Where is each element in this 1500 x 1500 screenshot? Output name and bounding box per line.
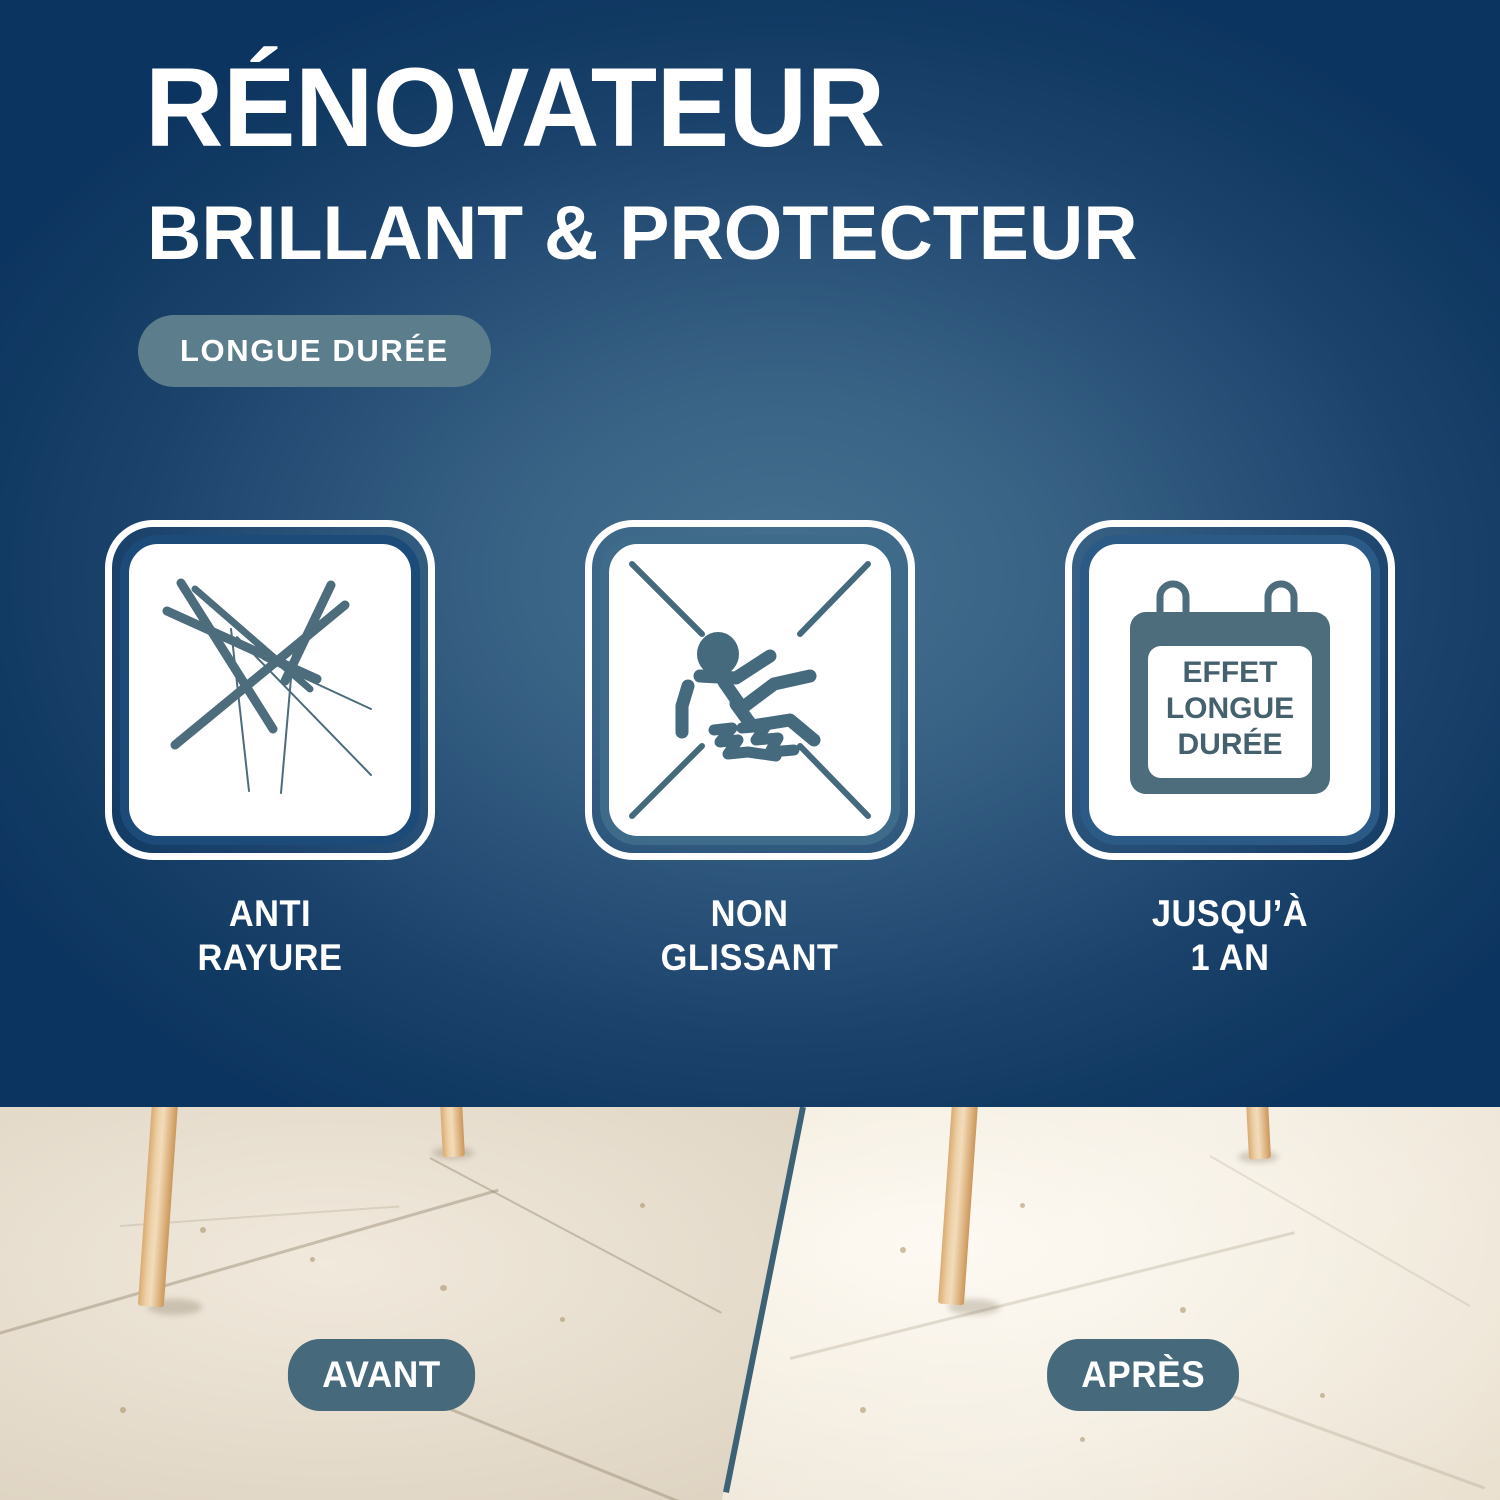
scratch-lines-icon [145, 559, 395, 821]
calendar-text-line1: EFFET [1183, 656, 1278, 689]
floor-speck [120, 1407, 126, 1413]
slippery-person-icon [624, 558, 876, 822]
page-subtitle: BRILLANT & PROTECTEUR [147, 196, 1138, 272]
before-after-photo [0, 1107, 1500, 1500]
feature-label: JUSQU’À 1 AN [1152, 892, 1308, 979]
calendar-text-line3: DURÉE [1177, 727, 1282, 761]
floor-speck [1080, 1437, 1085, 1442]
table-leg [1246, 1107, 1271, 1159]
feature-icon-frame [105, 520, 435, 860]
promo-banner: RÉNOVATEUR BRILLANT & PROTECTEUR LONGUE … [0, 0, 1500, 1500]
feature-label: NON GLISSANT [661, 892, 839, 979]
floor-speck [200, 1227, 206, 1233]
feature-label-line2: RAYURE [198, 936, 343, 980]
calendar-text-line2: LONGUE [1166, 692, 1294, 725]
feature-icon-inner [600, 535, 900, 845]
floor-speck [310, 1257, 315, 1262]
floor-speck [640, 1203, 645, 1208]
feature-jusqua-1-an: EFFET LONGUE DURÉE JUSQU’À 1 AN [1065, 520, 1395, 979]
floor-speck [1020, 1203, 1025, 1208]
feature-icon-inner: EFFET LONGUE DURÉE [1080, 535, 1380, 845]
feature-icon-frame [585, 520, 915, 860]
feature-label-line1: NON [661, 892, 839, 936]
feature-label-line2: GLISSANT [661, 936, 839, 980]
badge-apres: APRÈS [1047, 1339, 1239, 1411]
badge-avant: AVANT [288, 1339, 475, 1411]
feature-label-line1: JUSQU’À [1152, 892, 1308, 936]
floor-speck [1320, 1393, 1325, 1398]
badge-avant-label: AVANT [322, 1354, 441, 1396]
table-leg [440, 1107, 465, 1157]
floor-speck [440, 1285, 447, 1291]
feature-non-glissant: NON GLISSANT [585, 520, 915, 979]
feature-label: ANTI RAYURE [198, 892, 343, 979]
hero-panel: RÉNOVATEUR BRILLANT & PROTECTEUR LONGUE … [0, 0, 1500, 1107]
feature-label-line2: 1 AN [1152, 936, 1308, 980]
floor-speck [900, 1247, 906, 1253]
floor-speck [560, 1317, 565, 1322]
feature-label-line1: ANTI [198, 892, 343, 936]
calendar-icon: EFFET LONGUE DURÉE [1104, 558, 1356, 822]
feature-anti-rayure: ANTI RAYURE [105, 520, 435, 979]
status-badge-label: LONGUE DURÉE [180, 333, 449, 369]
status-badge: LONGUE DURÉE [138, 315, 491, 387]
feature-icon-frame: EFFET LONGUE DURÉE [1065, 520, 1395, 860]
page-title: RÉNOVATEUR [145, 52, 885, 164]
feature-icon-inner [120, 535, 420, 845]
badge-apres-label: APRÈS [1081, 1354, 1205, 1396]
floor-speck [860, 1407, 866, 1413]
floor-speck [1180, 1307, 1186, 1313]
feature-list: ANTI RAYURE [0, 520, 1500, 979]
